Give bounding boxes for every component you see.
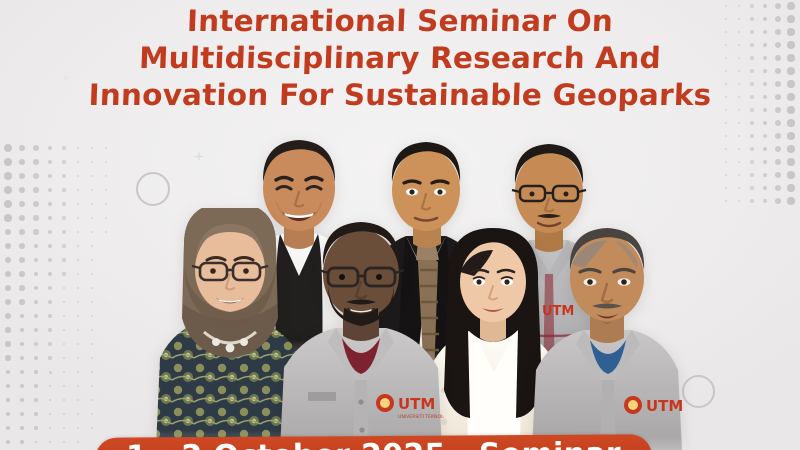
title-line-2: Multidisciplinary Research And xyxy=(0,40,800,77)
speaker-photo-4: UTM UNIVERSITI TEKNOLOGI xyxy=(278,216,444,450)
svg-text:UTM: UTM xyxy=(398,395,435,413)
title-line-3: Innovation For Sustainable Geoparks xyxy=(0,77,800,114)
speaker-photo-7: UTM xyxy=(528,220,686,450)
event-details-banner: 1 - 2 October 2025 · Seminar xyxy=(95,434,652,450)
page-title: International Seminar On Multidisciplina… xyxy=(0,3,800,114)
speaker-photo-group: UTM xyxy=(0,120,800,450)
title-line-1: International Seminar On xyxy=(0,3,800,40)
svg-text:UNIVERSITI TEKNOLOGI: UNIVERSITI TEKNOLOGI xyxy=(398,414,444,420)
event-details-text: 1 - 2 October 2025 · Seminar xyxy=(95,437,652,450)
event-poster: + + International Seminar On Multidiscip… xyxy=(0,0,800,450)
